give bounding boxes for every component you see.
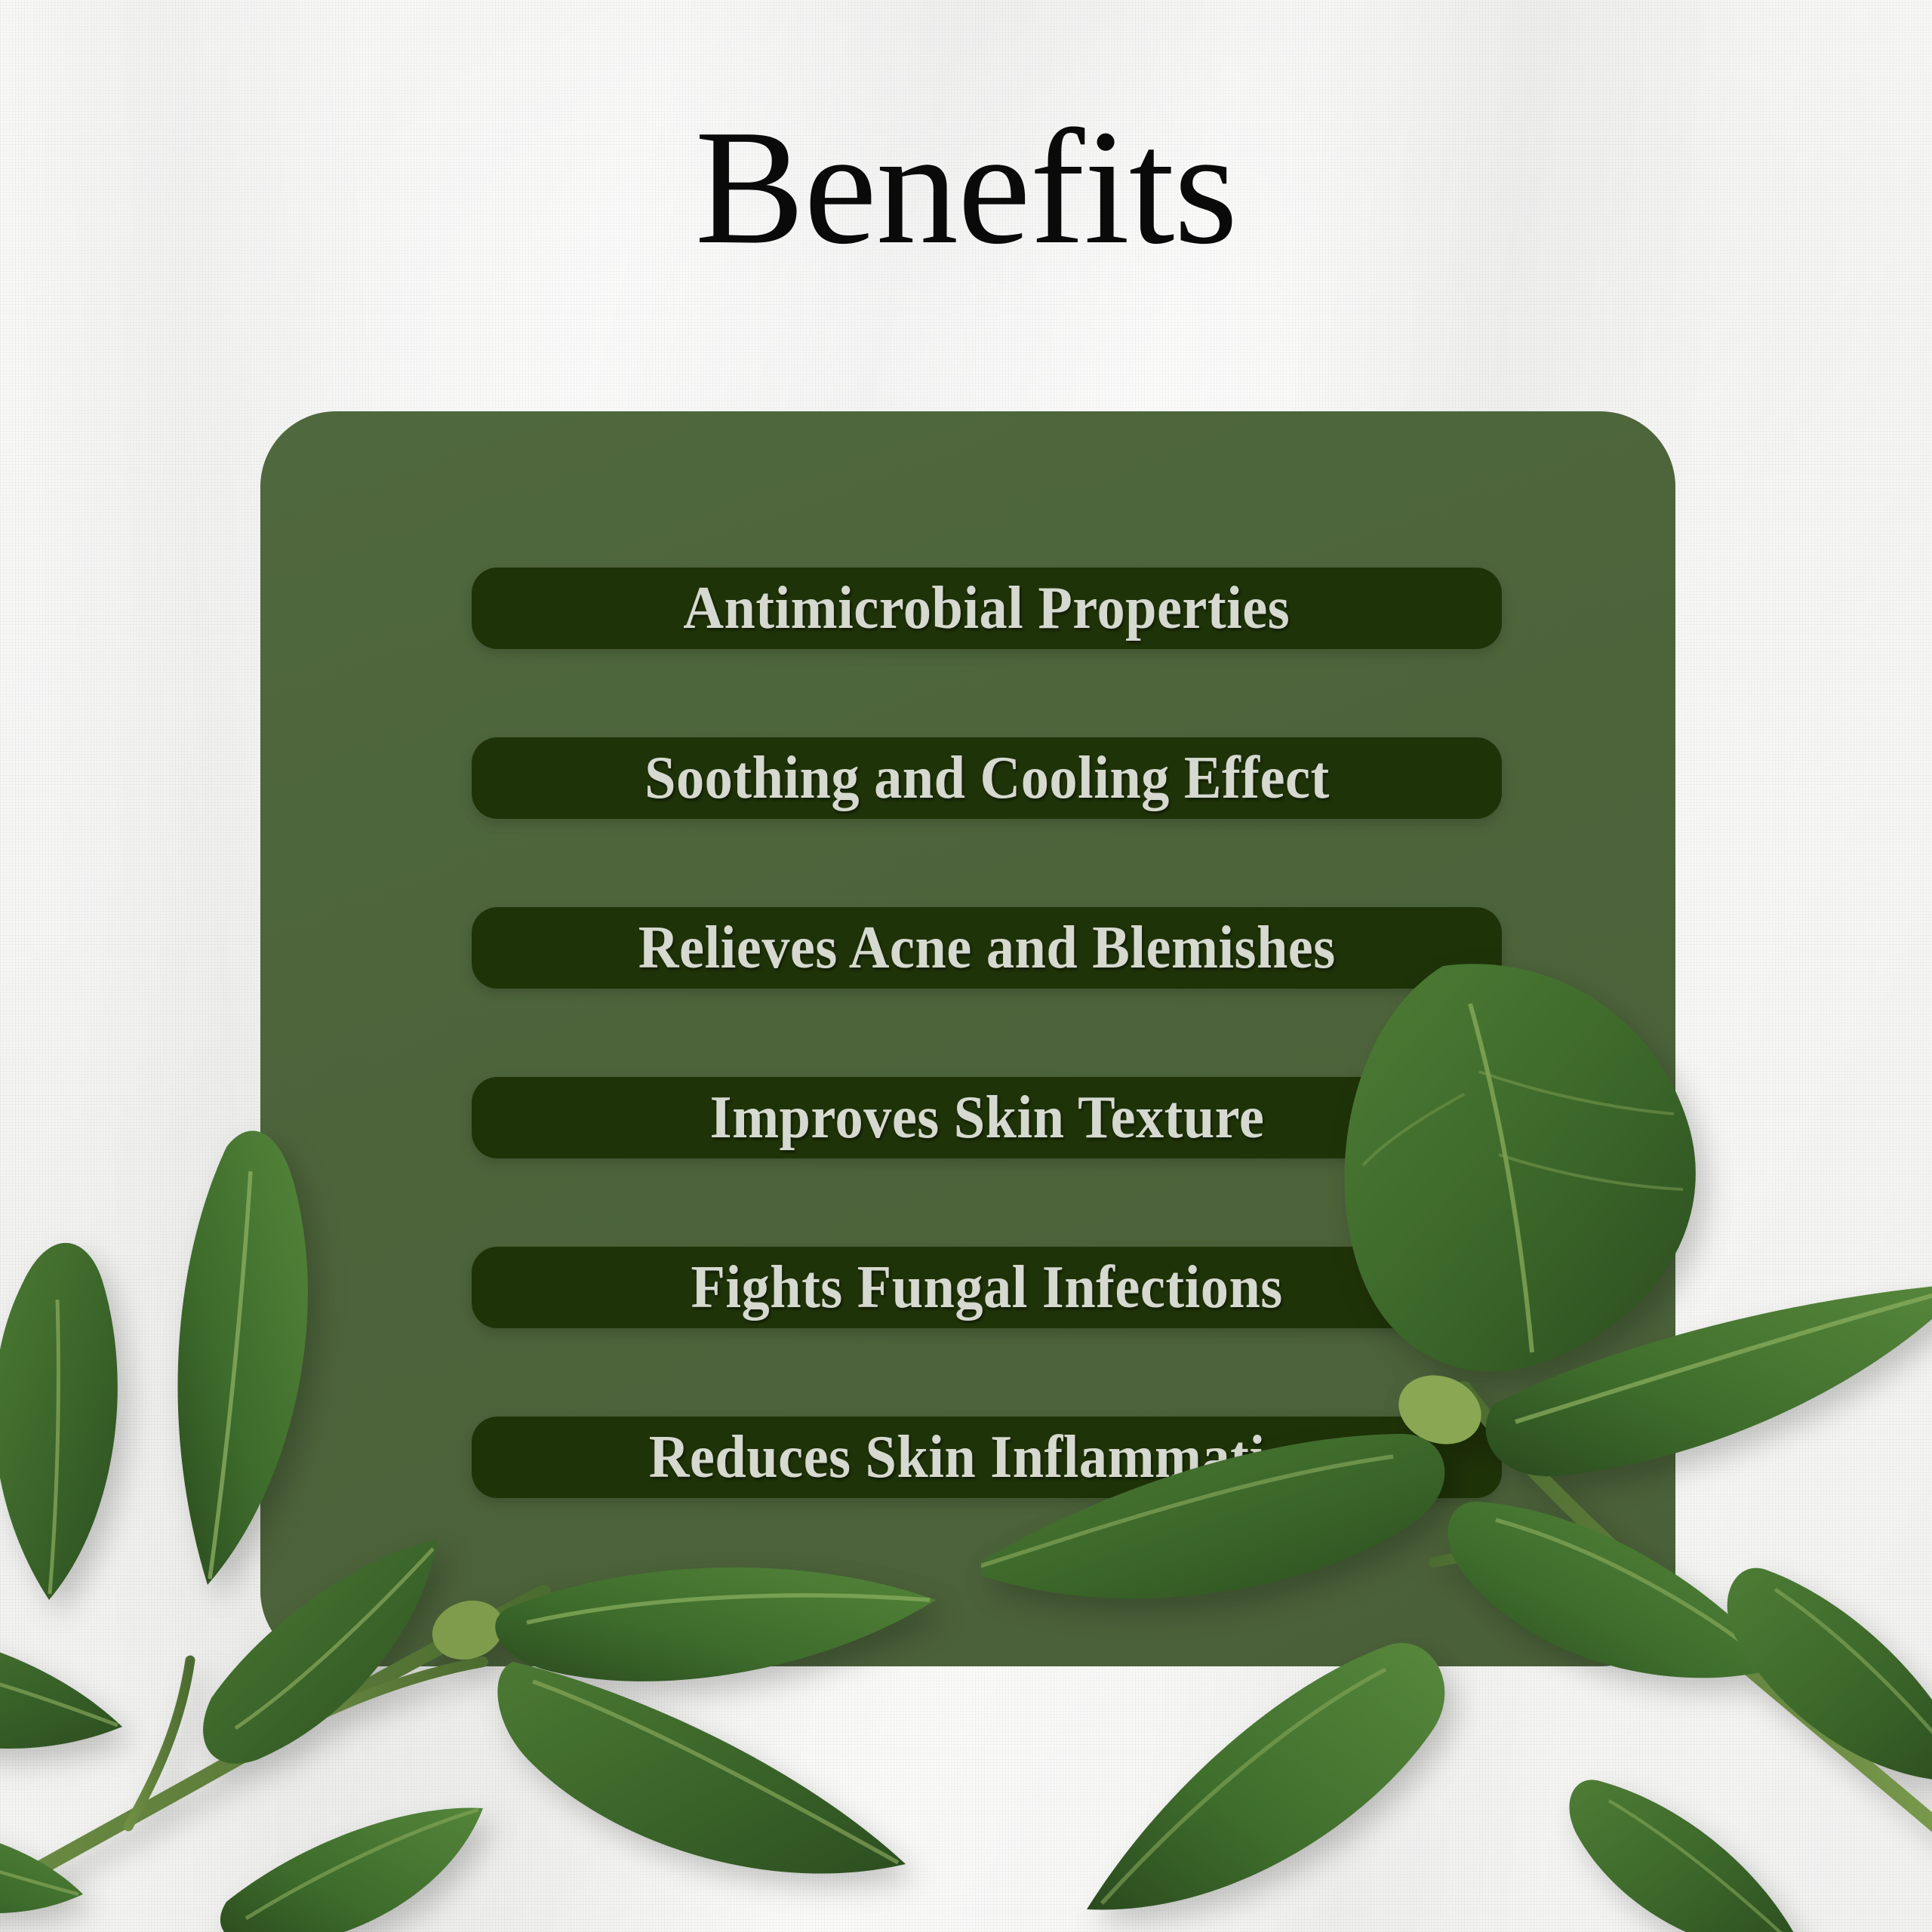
page-title: Benefits xyxy=(0,106,1932,270)
benefit-pill-2[interactable]: Soothing and Cooling Effect xyxy=(472,737,1502,819)
benefits-poster: Benefits Antimicrobial Properties Soothi… xyxy=(0,0,1932,1932)
benefit-label: Improves Skin Texture xyxy=(709,1088,1264,1148)
benefit-pill-6[interactable]: Reduces Skin Inflammation xyxy=(472,1417,1502,1498)
benefit-label: Soothing and Cooling Effect xyxy=(645,748,1330,808)
benefit-pill-5[interactable]: Fights Fungal Infections xyxy=(472,1247,1502,1328)
benefit-pill-1[interactable]: Antimicrobial Properties xyxy=(472,568,1502,649)
benefit-label: Reduces Skin Inflammation xyxy=(648,1427,1324,1487)
benefit-label: Fights Fungal Infections xyxy=(691,1257,1282,1318)
benefit-label: Antimicrobial Properties xyxy=(684,578,1291,638)
benefit-pill-3[interactable]: Relieves Acne and Blemishes xyxy=(472,907,1502,989)
benefits-list: Antimicrobial Properties Soothing and Co… xyxy=(472,568,1502,1498)
benefit-pill-4[interactable]: Improves Skin Texture xyxy=(472,1077,1502,1158)
benefit-label: Relieves Acne and Blemishes xyxy=(638,918,1336,978)
benefits-card: Antimicrobial Properties Soothing and Co… xyxy=(260,411,1675,1666)
